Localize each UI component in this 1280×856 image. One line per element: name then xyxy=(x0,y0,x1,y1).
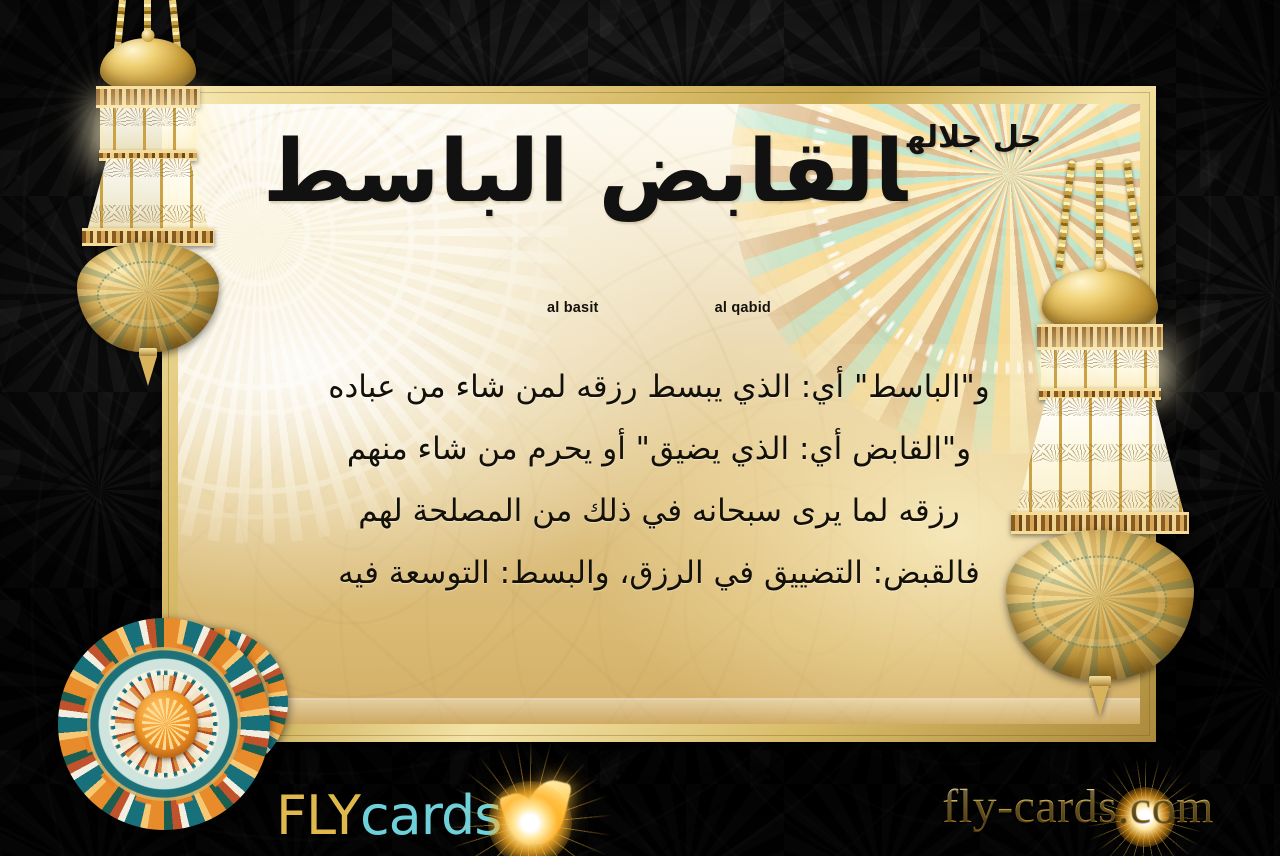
lantern-finial xyxy=(1091,686,1109,716)
lantern-chain xyxy=(1096,160,1103,264)
body-line-4: فالقبض: التضييق في الرزق، والبسط: التوسع… xyxy=(192,542,1126,604)
calligraphy-title: جل جلالهالقابض الباسط xyxy=(178,122,1140,223)
flycards-logo[interactable]: FLY cards xyxy=(276,784,501,847)
body-line-2: و"القابض أي: الذي يضيق" أو يحرم من شاء م… xyxy=(192,418,1126,480)
lantern-bulb-body xyxy=(1006,530,1194,680)
lantern-dome xyxy=(1042,268,1158,332)
lantern-collar xyxy=(1037,324,1163,350)
lantern-collar xyxy=(96,86,200,108)
lantern-finial xyxy=(139,356,157,386)
divine-names-text: القابض الباسط xyxy=(263,122,907,222)
card-surface: جل جلالهالقابض الباسط al basit al qabid … xyxy=(178,104,1140,724)
honorific-jalla-jalaluh: جل جلاله xyxy=(907,120,1041,155)
transliteration-al-qabid: al qabid xyxy=(715,300,771,316)
lantern-glass-upper xyxy=(1041,350,1159,390)
lantern-glass-upper xyxy=(100,108,196,154)
hanging-lantern-left-icon xyxy=(60,0,236,320)
mandala-rosette-front-icon xyxy=(58,618,270,830)
lantern-chain xyxy=(1123,160,1143,270)
lantern-chain xyxy=(1055,160,1075,270)
logo-text-cards: cards xyxy=(360,784,501,847)
logo-text-fly: FLY xyxy=(276,784,360,847)
transliteration-row: al basit al qabid xyxy=(178,300,1140,316)
lantern-dome xyxy=(100,38,196,92)
card-bottom-ledge xyxy=(178,698,1140,724)
arabic-body-text: و"الباسط" أي: الذي يبسط رزقه لمن شاء من … xyxy=(192,356,1126,604)
body-line-1: و"الباسط" أي: الذي يبسط رزقه لمن شاء من … xyxy=(192,356,1126,418)
website-url[interactable]: fly-cards.com xyxy=(942,779,1214,834)
body-line-3: رزقه لما يرى سبحانه في ذلك من المصلحة له… xyxy=(192,480,1126,542)
lantern-glass-lower xyxy=(1016,398,1184,514)
lantern-bulb-body xyxy=(77,242,219,352)
lantern-glass-lower xyxy=(87,159,209,231)
headline-block: جل جلالهالقابض الباسط xyxy=(178,122,1140,223)
greeting-card-canvas: جل جلالهالقابض الباسط al basit al qabid … xyxy=(0,0,1280,856)
transliteration-al-basit: al basit xyxy=(547,300,599,316)
hanging-lantern-right-icon xyxy=(1000,160,1200,630)
